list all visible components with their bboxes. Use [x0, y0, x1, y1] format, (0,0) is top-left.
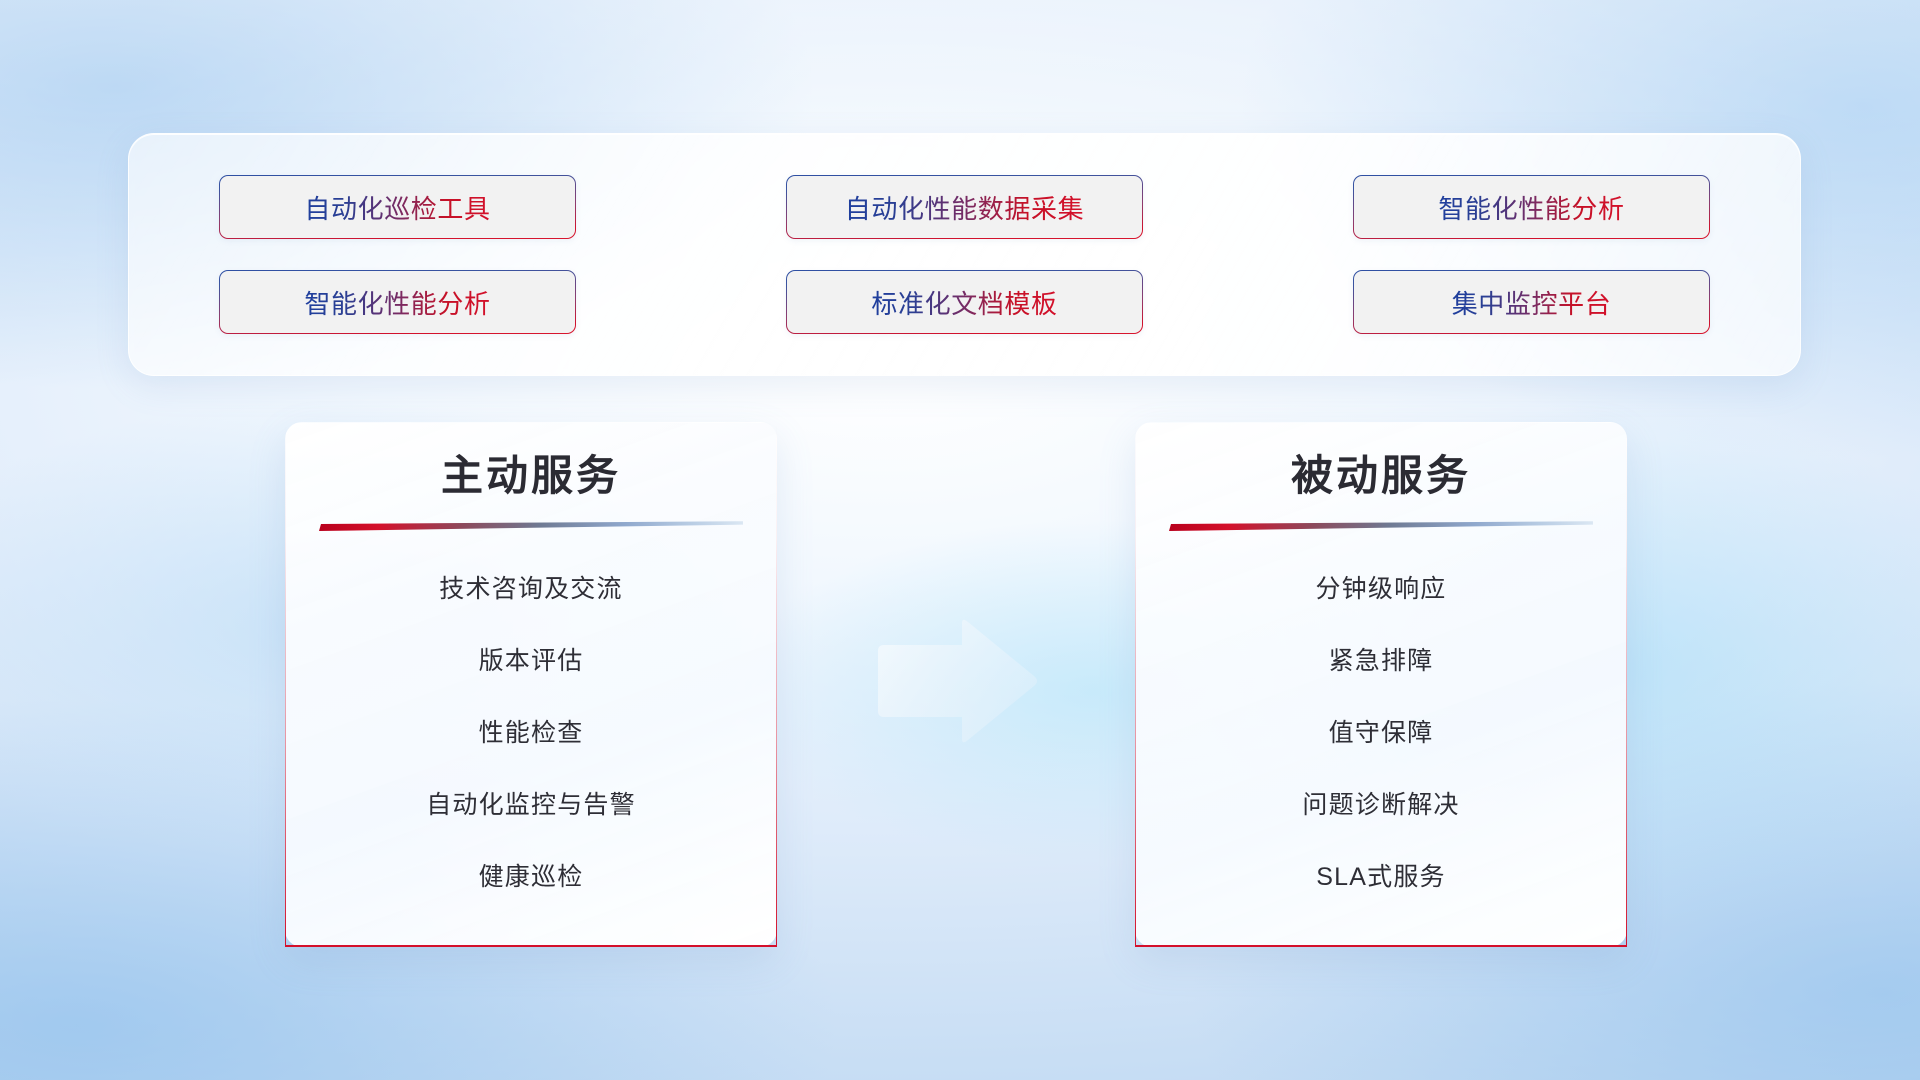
- capability-tag-standardized-document-template[interactable]: 标准化文档模板: [786, 270, 1143, 334]
- list-item: 技术咨询及交流: [439, 553, 622, 625]
- list-item: 版本评估: [479, 625, 584, 697]
- capability-tag-label: 智能化性能分析: [304, 284, 490, 321]
- service-card-passive: 被动服务 分钟级响应 紧急排障 值守保障 问题诊断解决 SLA式服务: [1135, 422, 1627, 947]
- capability-tag-intelligent-performance-analysis-2[interactable]: 智能化性能分析: [219, 270, 576, 334]
- list-item: 健康巡检: [479, 841, 584, 913]
- capability-tag-intelligent-performance-analysis[interactable]: 智能化性能分析: [1353, 175, 1710, 239]
- capability-tag-label: 自动化巡检工具: [304, 189, 490, 226]
- capability-tags-panel: 自动化巡检工具 自动化性能数据采集 智能化性能分析 智能化性能分析 标准化文档模…: [128, 133, 1801, 376]
- list-item: 分钟级响应: [1315, 553, 1446, 625]
- service-card-title: 主动服务: [441, 452, 621, 500]
- service-card-inner: 被动服务 分钟级响应 紧急排障 值守保障 问题诊断解决 SLA式服务: [1136, 423, 1626, 945]
- capability-tag-label: 标准化文档模板: [871, 284, 1057, 321]
- service-card-active: 主动服务 技术咨询及交流 版本评估 性能检查 自动化监控与告警 健康巡检: [285, 422, 777, 947]
- list-item: 自动化监控与告警: [426, 769, 636, 841]
- list-item: 值守保障: [1329, 697, 1434, 769]
- service-card-list: 技术咨询及交流 版本评估 性能检查 自动化监控与告警 健康巡检: [286, 553, 776, 913]
- capability-tag-label: 智能化性能分析: [1438, 189, 1624, 226]
- capability-tag-row-1: 自动化巡检工具 自动化性能数据采集 智能化性能分析: [219, 175, 1710, 239]
- list-item: SLA式服务: [1316, 841, 1445, 913]
- capability-tag-label: 自动化性能数据采集: [845, 189, 1084, 226]
- list-item: 问题诊断解决: [1302, 769, 1459, 841]
- arrow-right-icon: [872, 619, 1040, 744]
- title-divider: [319, 520, 743, 533]
- capability-tag-label: 集中监控平台: [1452, 284, 1612, 321]
- list-item: 紧急排障: [1329, 625, 1434, 697]
- title-divider: [1169, 520, 1593, 533]
- service-card-list: 分钟级响应 紧急排障 值守保障 问题诊断解决 SLA式服务: [1136, 553, 1626, 913]
- service-card-title: 被动服务: [1291, 452, 1471, 500]
- capability-tag-automated-performance-data-collection[interactable]: 自动化性能数据采集: [786, 175, 1143, 239]
- capability-tag-row-2: 智能化性能分析 标准化文档模板 集中监控平台: [219, 270, 1710, 334]
- capability-tag-automated-inspection-tool[interactable]: 自动化巡检工具: [219, 175, 576, 239]
- capability-tag-centralized-monitoring-platform[interactable]: 集中监控平台: [1353, 270, 1710, 334]
- service-card-inner: 主动服务 技术咨询及交流 版本评估 性能检查 自动化监控与告警 健康巡检: [286, 423, 776, 945]
- list-item: 性能检查: [479, 697, 584, 769]
